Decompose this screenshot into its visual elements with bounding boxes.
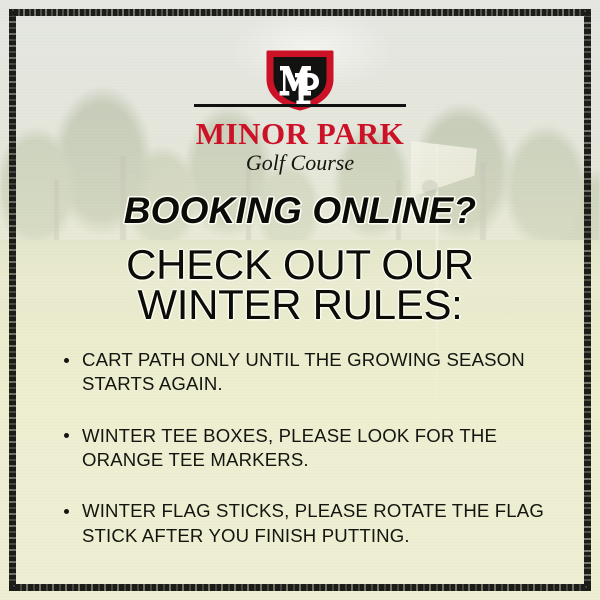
list-item: CART PATH ONLY UNTIL THE GROWING SEASON … xyxy=(60,348,554,397)
list-item-text: WINTER TEE BOXES, PLEASE LOOK FOR THE OR… xyxy=(82,425,497,470)
headline: BOOKING ONLINE? xyxy=(0,190,600,232)
winter-rules-list: CART PATH ONLY UNTIL THE GROWING SEASON … xyxy=(60,348,554,548)
poster-canvas: MINOR PARK Golf Course BOOKING ONLINE? C… xyxy=(0,0,600,600)
minor-park-shield-icon xyxy=(265,49,335,111)
poster-content: MINOR PARK Golf Course BOOKING ONLINE? C… xyxy=(0,0,600,600)
list-item-text: WINTER FLAG STICKS, PLEASE ROTATE THE FL… xyxy=(82,500,544,545)
list-item: WINTER TEE BOXES, PLEASE LOOK FOR THE OR… xyxy=(60,424,554,473)
logo-divider-rule xyxy=(194,104,406,107)
subheadline-line-2: WINTER RULES: xyxy=(0,285,600,325)
subheadline: CHECK OUT OUR WINTER RULES: xyxy=(0,245,600,326)
list-item-text: CART PATH ONLY UNTIL THE GROWING SEASON … xyxy=(82,349,525,394)
bullet-icon xyxy=(64,433,69,438)
list-item: WINTER FLAG STICKS, PLEASE ROTATE THE FL… xyxy=(60,499,554,548)
brand-logo: MINOR PARK Golf Course xyxy=(0,49,600,174)
brand-name: MINOR PARK xyxy=(0,118,600,149)
brand-tagline: Golf Course xyxy=(0,152,600,174)
bullet-icon xyxy=(64,509,69,514)
shield-wrapper xyxy=(0,49,600,111)
bullet-icon xyxy=(64,358,69,363)
